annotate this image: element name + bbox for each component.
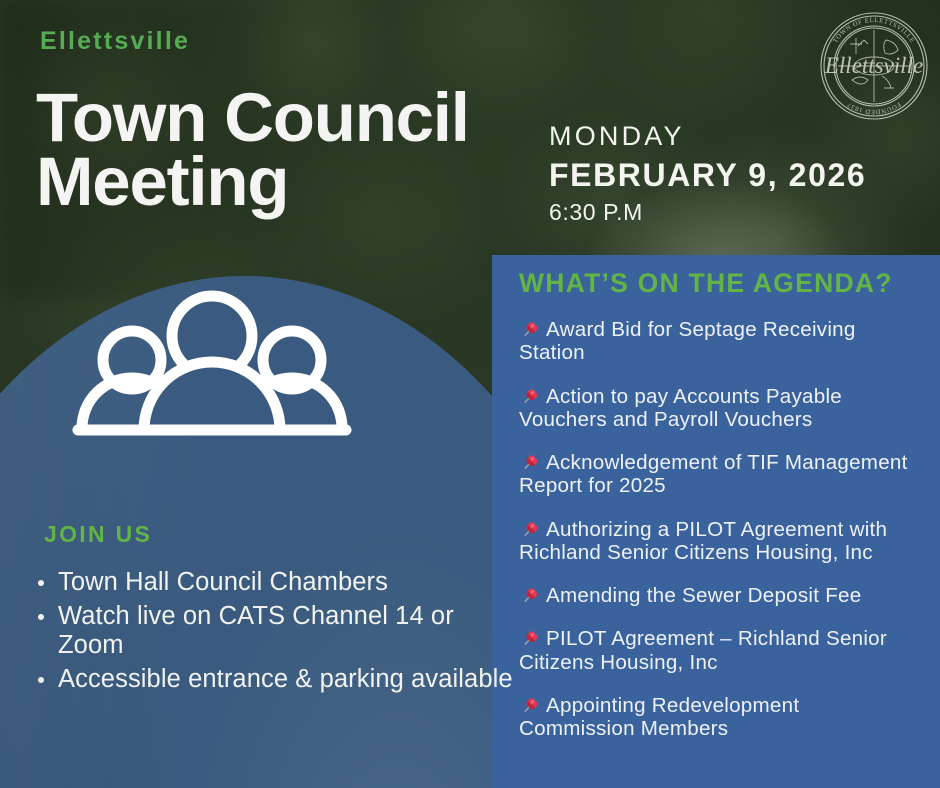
list-item: Watch live on CATS Channel 14 or Zoom xyxy=(58,602,518,661)
agenda-item-text: Amending the Sewer Deposit Fee xyxy=(546,584,861,607)
agenda-heading: WHAT’S ON THE AGENDA? xyxy=(519,268,893,299)
pushpin-icon xyxy=(519,695,543,715)
join-us-list: Town Hall Council Chambers Watch live on… xyxy=(26,568,518,698)
meeting-date-block: MONDAY FEBRUARY 9, 2026 6:30 P.M xyxy=(549,120,866,228)
page-title-line-2: Meeting xyxy=(36,150,556,214)
agenda-item-text: Authorizing a PILOT Agreement with Richl… xyxy=(519,518,887,564)
flyer-poster: Ellettsville Town Council Meeting MONDAY… xyxy=(0,0,940,788)
page-title: Town Council Meeting xyxy=(36,86,556,214)
pushpin-icon xyxy=(519,628,543,648)
town-seal-icon: TOWN OF ELLETTSVILLE FOUNDED 1837 Ellett… xyxy=(818,10,930,122)
pushpin-icon xyxy=(519,452,543,472)
group-of-people-icon xyxy=(62,288,362,453)
join-us-heading: JOIN US xyxy=(44,521,152,548)
agenda-item-text: PILOT Agreement – Richland Senior Citize… xyxy=(519,627,887,673)
list-item: Appointing Redevelopment Commission Memb… xyxy=(519,694,919,741)
list-item: Action to pay Accounts Payable Vouchers … xyxy=(519,385,919,432)
agenda-item-text: Action to pay Accounts Payable Vouchers … xyxy=(519,385,842,431)
list-item: Acknowledgement of TIF Management Report… xyxy=(519,451,919,498)
pushpin-icon xyxy=(519,319,543,339)
pushpin-icon xyxy=(519,386,543,406)
agenda-item-text: Appointing Redevelopment Commission Memb… xyxy=(519,694,799,740)
meeting-time: 6:30 P.M xyxy=(549,198,866,228)
pushpin-icon xyxy=(519,519,543,539)
list-item: Accessible entrance & parking available xyxy=(58,665,518,695)
town-name-kicker: Ellettsville xyxy=(40,27,190,56)
list-item: Amending the Sewer Deposit Fee xyxy=(519,584,919,607)
list-item: Authorizing a PILOT Agreement with Richl… xyxy=(519,518,919,565)
svg-text:FOUNDED 1837: FOUNDED 1837 xyxy=(846,100,902,115)
list-item: Award Bid for Septage Receiving Station xyxy=(519,318,919,365)
agenda-item-text: Acknowledgement of TIF Management Report… xyxy=(519,451,908,497)
meeting-weekday: MONDAY xyxy=(549,120,866,154)
list-item: Town Hall Council Chambers xyxy=(58,568,518,598)
meeting-date: FEBRUARY 9, 2026 xyxy=(549,156,866,195)
agenda-item-text: Award Bid for Septage Receiving Station xyxy=(519,318,856,364)
list-item: PILOT Agreement – Richland Senior Citize… xyxy=(519,627,919,674)
pushpin-icon xyxy=(519,585,543,605)
agenda-list: Award Bid for Septage Receiving Station … xyxy=(519,318,919,740)
svg-text:Ellettsville: Ellettsville xyxy=(824,53,923,78)
